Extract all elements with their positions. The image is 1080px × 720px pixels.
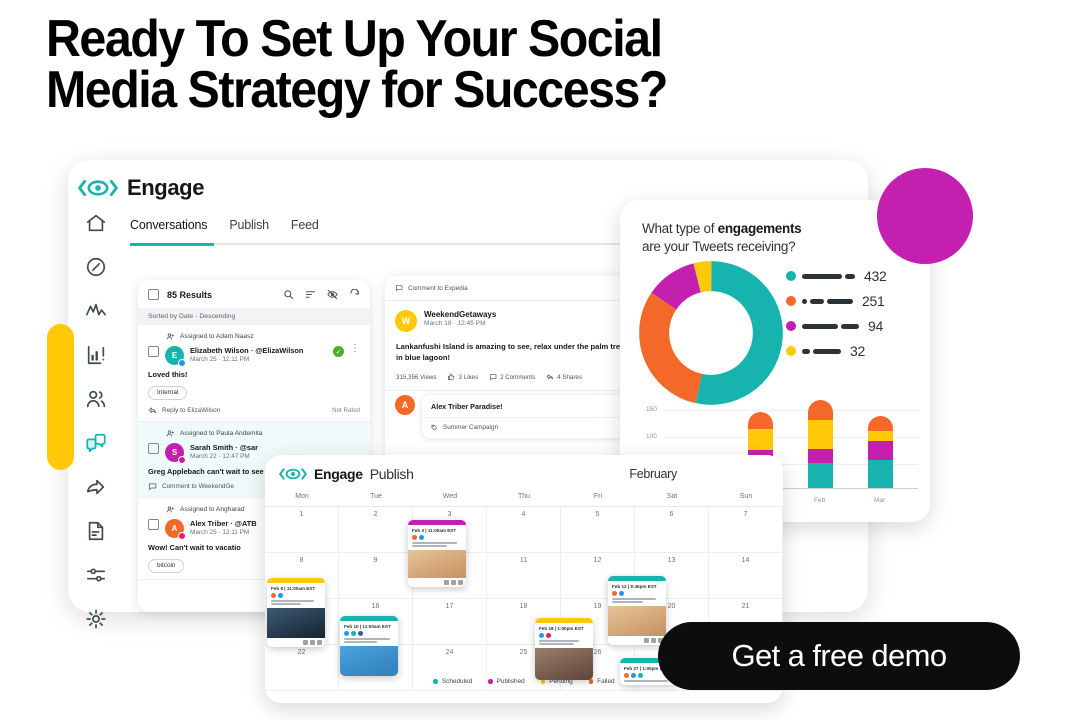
assignment-row: Assigned to Paula Andemita — [148, 429, 360, 438]
calendar-day-cell[interactable]: 4 — [487, 507, 561, 553]
app-tabs: Conversations Publish Feed — [130, 218, 319, 240]
day-number: 9 — [374, 557, 378, 564]
legend-color-swatch — [786, 296, 796, 306]
day-number: 21 — [742, 603, 750, 610]
decorative-yellow-pill — [47, 324, 74, 470]
conversation-reply-target: Reply to ElizaWilson — [162, 407, 220, 414]
scheduled-post-card[interactable]: Feb 8 | 11:00am EST — [267, 578, 325, 647]
conversation-author: Sarah Smith · @sar — [190, 443, 360, 453]
assign-user-icon — [166, 332, 175, 341]
comment-icon — [489, 373, 497, 381]
calendar-month: February — [629, 467, 677, 481]
headline-line-1: Ready To Set Up Your Social — [46, 10, 662, 68]
legend-color-swatch — [488, 679, 493, 684]
conversation-checkbox[interactable] — [148, 519, 159, 530]
approved-status-icon: ✓ — [333, 346, 344, 357]
post-card-actions[interactable] — [408, 578, 466, 587]
day-number: 26 — [594, 649, 602, 656]
results-count: 85 Results — [167, 290, 212, 300]
stat-likes-label: 3 Likes — [458, 374, 478, 381]
calendar-day-cell[interactable]: 2 — [339, 507, 413, 553]
reply-tag-label: Summer Campaign — [443, 424, 498, 431]
legend-label-redacted — [802, 349, 841, 354]
post-network-icons — [267, 593, 325, 600]
conversation-tag[interactable]: bitcoin — [148, 559, 184, 573]
calendar-day-cell[interactable]: 11 — [487, 553, 561, 599]
legend-color-swatch — [589, 679, 594, 684]
avatar-initial: A — [172, 524, 178, 533]
day-number: 2 — [374, 511, 378, 518]
avatar-initial: W — [402, 316, 411, 326]
comment-icon — [395, 284, 403, 292]
weekday-mon: Mon — [265, 488, 339, 506]
legend-label-redacted — [802, 299, 853, 304]
legend-scheduled: Scheduled — [433, 678, 472, 685]
scheduled-post-card[interactable]: Feb 12 | 9:45pm EST — [608, 576, 666, 645]
legend-color-swatch — [786, 346, 796, 356]
avatar-network-badge — [178, 456, 186, 464]
calendar-day-cell[interactable]: 5 — [561, 507, 635, 553]
comment-icon — [148, 482, 157, 491]
x-tick-feb: Feb — [814, 497, 825, 504]
post-card-image — [535, 648, 593, 680]
thumb-up-icon — [447, 373, 455, 381]
conversation-date: March 25 · 12:11 PM — [190, 356, 327, 365]
assignment-label: Assigned to Adam Naasz — [180, 333, 254, 340]
avatar: A — [165, 519, 184, 538]
divider — [385, 390, 635, 391]
publish-brand-name: Engage — [314, 466, 363, 482]
conversation-reply-target: Comment to WeekendGe — [162, 483, 234, 490]
avatar-initial: A — [402, 400, 409, 410]
post-body-text: Lankanfushi Island is amazing to see, re… — [385, 332, 635, 363]
legend-published: Published — [488, 678, 525, 685]
conversation-text: Loved this! — [148, 370, 360, 380]
publish-section-name: Publish — [370, 466, 414, 482]
post-card-image — [408, 550, 466, 578]
legend-value: 432 — [864, 268, 886, 284]
analytics-title-post: are your Tweets receiving? — [642, 239, 795, 254]
donut-legend: 432 251 94 32 — [786, 268, 886, 359]
legend-row: 94 — [786, 318, 886, 334]
get-free-demo-button[interactable]: Get a free demo — [658, 622, 1020, 690]
day-number: 22 — [298, 649, 306, 656]
conversation-rating: Not Rated — [332, 407, 360, 414]
eye-off-icon[interactable] — [327, 289, 338, 300]
bar-mar — [868, 416, 893, 488]
reply-icon — [148, 406, 157, 415]
people-icon[interactable] — [85, 388, 107, 410]
post-card-actions[interactable] — [608, 636, 666, 645]
post-card-image — [608, 606, 666, 636]
day-number: 20 — [668, 603, 676, 610]
post-author-row: W WeekendGetaways March 18 · 12:45 PM — [385, 301, 635, 332]
post-card-time: Feb 18 | 1:00pm EST — [535, 623, 593, 633]
x-tick-mar: Mar — [874, 497, 885, 504]
post-context: Comment to Expedia — [385, 276, 635, 300]
post-network-icons — [535, 633, 593, 640]
scheduled-post-card[interactable]: Feb 3 | 11:00am EST — [408, 520, 466, 587]
legend-color-swatch — [786, 321, 796, 331]
tab-publish[interactable]: Publish — [229, 218, 269, 240]
analytics-title-bold: engagements — [718, 221, 802, 236]
day-number: 25 — [520, 649, 528, 656]
day-number: 7 — [744, 511, 748, 518]
scheduled-post-card[interactable]: Feb 10 | 11:00am EST — [340, 616, 398, 676]
legend-row: 32 — [786, 343, 886, 359]
assignment-label: Assigned to Angharad — [180, 506, 245, 513]
day-number: 13 — [668, 557, 676, 564]
weekday-sun: Sun — [709, 488, 783, 506]
share-icon[interactable] — [85, 476, 107, 498]
calendar-day-cell[interactable]: 1 — [265, 507, 339, 553]
avatar-initial: S — [172, 448, 177, 457]
assign-user-icon — [166, 505, 175, 514]
day-number: 4 — [522, 511, 526, 518]
post-card-time: Feb 12 | 9:45pm EST — [608, 581, 666, 591]
legend-row: 251 — [786, 293, 886, 309]
select-all-checkbox[interactable] — [148, 289, 159, 300]
conversations-toolbar: 85 Results — [138, 280, 370, 308]
assignment-row: Assigned to Adam Naasz — [148, 332, 360, 341]
y-tick-150: 150 — [646, 406, 657, 413]
legend-label: Scheduled — [442, 678, 472, 685]
assignment-label: Assigned to Paula Andemita — [180, 430, 262, 437]
document-icon[interactable] — [85, 520, 107, 542]
scheduled-post-card[interactable]: Feb 18 | 1:00pm EST — [535, 618, 593, 680]
day-number: 5 — [596, 511, 600, 518]
stat-shares: 4 Shares — [546, 373, 582, 381]
decorative-circle — [877, 168, 973, 264]
avatar: W — [395, 310, 417, 332]
day-number: 14 — [742, 557, 750, 564]
home-icon[interactable] — [85, 212, 107, 234]
weekday-tue: Tue — [339, 488, 413, 506]
tab-feed[interactable]: Feed — [291, 218, 319, 240]
post-card-text-placeholder — [535, 640, 593, 648]
legend-label-redacted — [802, 324, 859, 329]
post-card-image — [267, 608, 325, 638]
y-tick-100: 100 — [646, 433, 657, 440]
analytics-title: What type of engagements are your Tweets… — [620, 200, 835, 255]
post-stats: 315,356 Views 3 Likes 2 Comments 4 Share… — [385, 363, 635, 390]
post-card-text-placeholder — [340, 638, 398, 646]
bar-feb — [808, 400, 833, 488]
calendar-day-cell[interactable]: 9 — [339, 553, 413, 599]
avatar-network-badge — [178, 359, 186, 367]
stat-shares-label: 4 Shares — [557, 374, 582, 381]
tab-active-indicator — [130, 243, 214, 246]
page-title: Ready To Set Up Your Social Media Strate… — [46, 14, 883, 116]
assign-user-icon — [166, 429, 175, 438]
calendar-weekday-header: Mon Tue Wed Thu Fri Sat Sun — [265, 488, 783, 507]
legend-label-redacted — [802, 274, 855, 279]
headline-line-2: Media Strategy for Success? — [46, 65, 883, 116]
post-card-text-placeholder — [408, 542, 466, 550]
chat-icon[interactable] — [85, 432, 107, 454]
publish-logo: Engage Publish — [279, 466, 414, 482]
tab-conversations[interactable]: Conversations — [130, 218, 207, 240]
legend-color-swatch — [786, 271, 796, 281]
legend-value: 251 — [862, 293, 884, 309]
search-icon[interactable] — [283, 289, 294, 300]
stat-views: 315,356 Views — [396, 374, 436, 381]
weekday-fri: Fri — [561, 488, 635, 506]
avatar-initial: E — [172, 351, 177, 360]
sliders-icon[interactable] — [85, 564, 107, 586]
sort-icon[interactable] — [305, 289, 316, 300]
day-number: 11 — [520, 557, 527, 564]
calendar-day-cell[interactable]: 14 — [709, 553, 783, 599]
weekday-sat: Sat — [635, 488, 709, 506]
post-card-text-placeholder — [267, 600, 325, 608]
avatar-network-badge — [178, 532, 186, 540]
post-card-actions[interactable] — [267, 638, 325, 647]
reply-tag[interactable]: Summer Campaign — [422, 418, 625, 438]
post-network-icons — [408, 535, 466, 542]
calendar-day-cell[interactable]: 17 — [413, 599, 487, 645]
day-number: 17 — [446, 603, 454, 610]
engage-logo: Engage — [78, 175, 204, 201]
sort-description: Sorted by Date - Descending — [138, 308, 370, 325]
refresh-icon[interactable] — [349, 289, 360, 300]
brand-name: Engage — [127, 175, 204, 201]
day-number: 6 — [670, 511, 674, 518]
day-number: 1 — [300, 511, 304, 518]
legend-failed: Failed — [589, 678, 615, 685]
publish-header: Engage Publish February — [265, 455, 783, 488]
weekday-wed: Wed — [413, 488, 487, 506]
conversation-checkbox[interactable] — [148, 443, 159, 454]
post-card-time: Feb 3 | 11:00am EST — [408, 525, 466, 535]
reply-title: Alex Triber Paradise! — [422, 395, 625, 417]
day-number: 3 — [448, 511, 452, 518]
legend-row: 432 — [786, 268, 886, 284]
eye-logo-icon — [78, 178, 118, 198]
day-number: 12 — [594, 557, 602, 564]
day-number: 24 — [446, 649, 454, 656]
stat-views-label: 315,356 Views — [396, 374, 436, 381]
avatar: S — [165, 443, 184, 462]
post-context-label: Comment to Expedia — [408, 285, 468, 292]
conversation-item[interactable]: Assigned to Adam Naasz E Elizabeth Wilso… — [138, 325, 370, 422]
post-card-time: Feb 10 | 11:00am EST — [340, 621, 398, 631]
weekday-thu: Thu — [487, 488, 561, 506]
compass-icon[interactable] — [85, 256, 107, 278]
avatar: E — [165, 346, 184, 365]
post-card-time: Feb 8 | 11:00am EST — [267, 583, 325, 593]
day-number: 8 — [300, 557, 304, 564]
conversation-author: Elizabeth Wilson · @ElizaWilson — [190, 346, 327, 356]
post-date: March 18 · 12:45 PM — [424, 320, 496, 327]
stat-comments-label: 2 Comments — [500, 374, 535, 381]
post-card-image — [340, 646, 398, 676]
eye-logo-icon — [279, 467, 307, 481]
avatar: A — [395, 395, 415, 415]
tag-icon — [431, 424, 438, 431]
bar-chart-icon[interactable] — [85, 344, 107, 366]
conversation-checkbox[interactable] — [148, 346, 159, 357]
legend-label: Published — [497, 678, 525, 685]
stat-likes: 3 Likes — [447, 373, 478, 381]
day-number: 16 — [372, 603, 380, 610]
reply-item[interactable]: A Alex Triber Paradise! Summer Campaign — [395, 395, 625, 438]
pulse-icon[interactable] — [85, 300, 107, 322]
more-options-icon[interactable]: ⋮ — [350, 346, 360, 352]
legend-value: 94 — [868, 318, 883, 334]
gear-icon[interactable] — [85, 608, 107, 630]
post-card-text-placeholder — [608, 598, 666, 606]
legend-value: 32 — [850, 343, 865, 359]
legend-label: Failed — [597, 678, 614, 685]
app-sidebar — [76, 212, 116, 630]
post-network-icons — [608, 591, 666, 598]
calendar-day-cell[interactable]: 7 — [709, 507, 783, 553]
share-icon — [546, 373, 554, 381]
conversation-tag[interactable]: Internal — [148, 386, 187, 400]
analytics-title-pre: What type of — [642, 221, 718, 236]
calendar-day-cell[interactable]: 6 — [635, 507, 709, 553]
stat-comments: 2 Comments — [489, 373, 535, 381]
day-number: 19 — [594, 603, 602, 610]
post-author-name: WeekendGetaways — [424, 310, 496, 319]
day-number: 18 — [520, 603, 528, 610]
legend-color-swatch — [433, 679, 438, 684]
post-network-icons — [340, 631, 398, 638]
